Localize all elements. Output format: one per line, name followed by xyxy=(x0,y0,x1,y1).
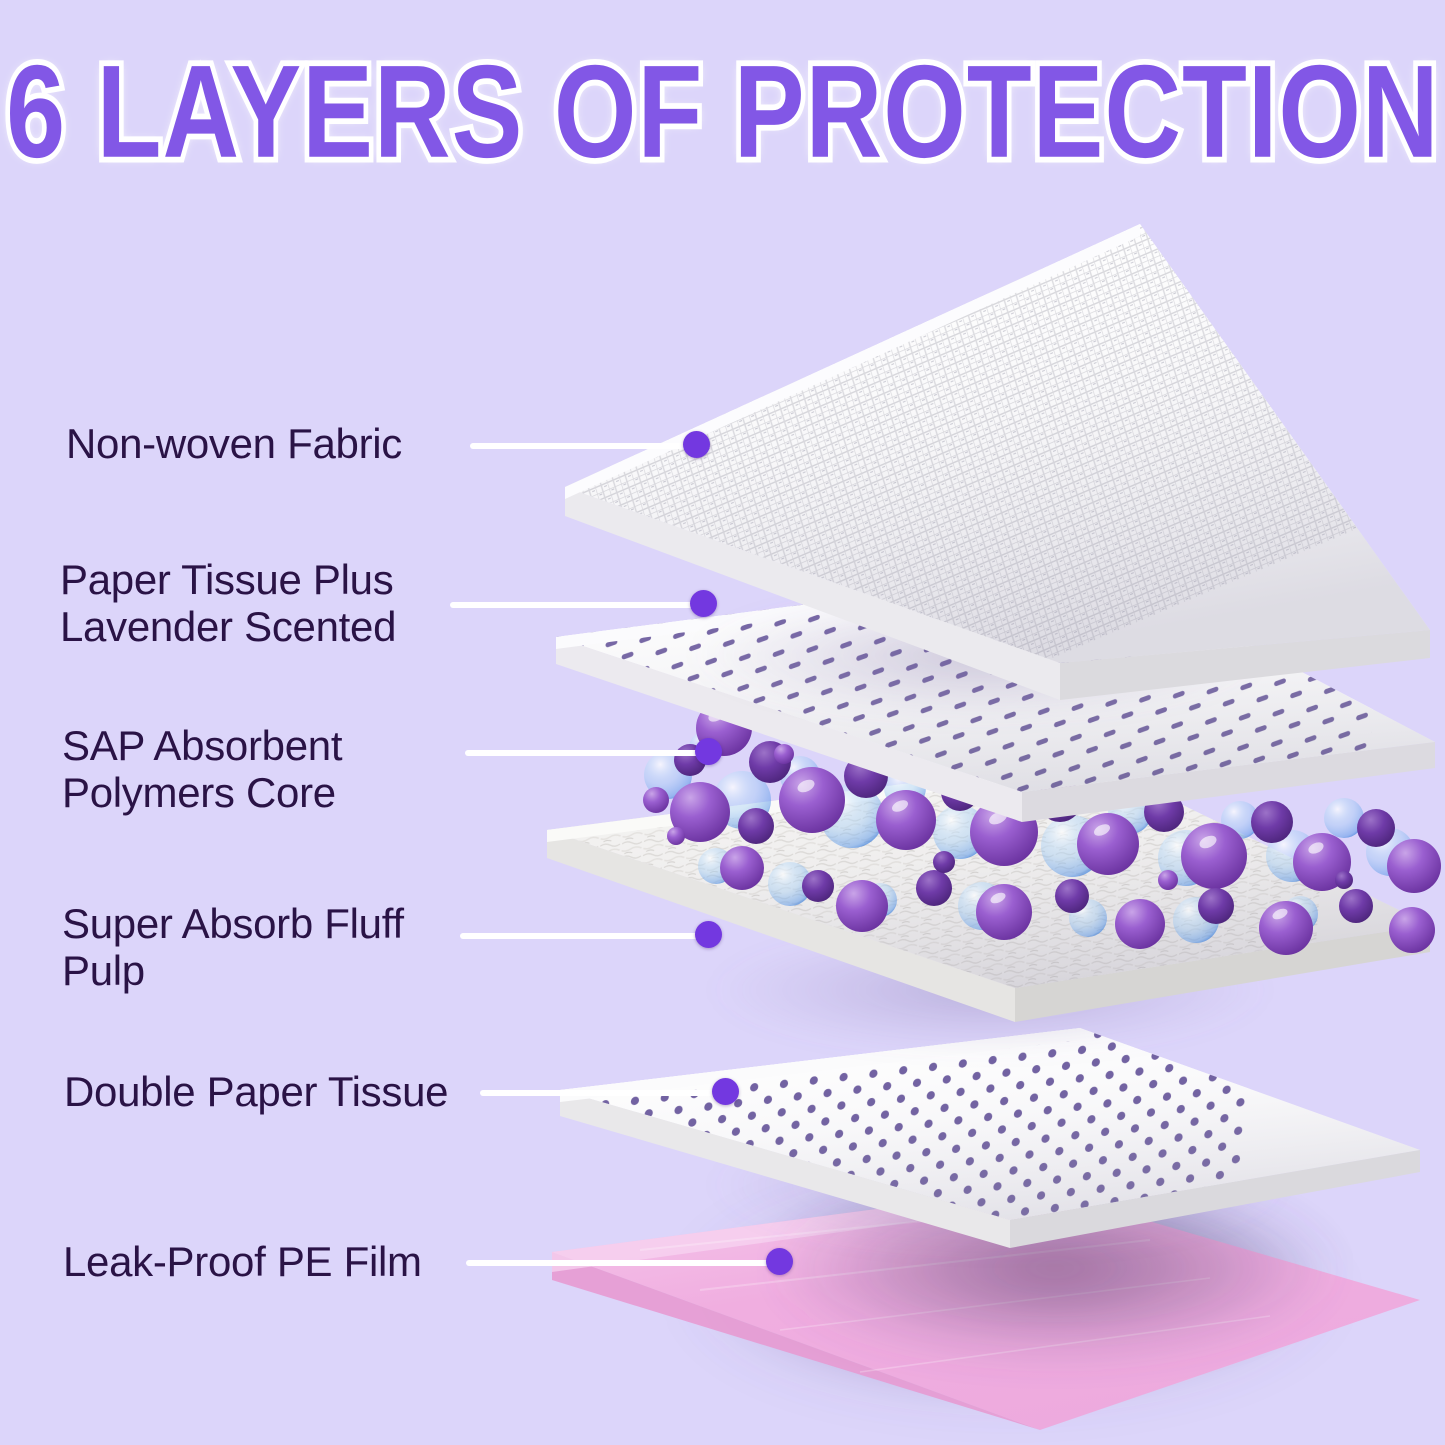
callout-dot-2[interactable] xyxy=(690,590,717,617)
leader-line-3 xyxy=(465,750,708,756)
callout-dot-1[interactable] xyxy=(683,431,710,458)
leader-line-2 xyxy=(450,602,703,608)
layer-label-paper-tissue-lavender: Paper Tissue Plus Lavender Scented xyxy=(60,556,396,650)
layer-label-double-paper-tissue: Double Paper Tissue xyxy=(64,1068,448,1115)
layer-label-sap-core: SAP Absorbent Polymers Core xyxy=(62,722,342,816)
leader-line-5 xyxy=(480,1090,725,1096)
callout-dot-4[interactable] xyxy=(695,921,722,948)
leader-line-1 xyxy=(470,443,696,449)
leader-line-6 xyxy=(466,1260,778,1266)
leader-line-4 xyxy=(460,933,708,939)
callout-dot-6[interactable] xyxy=(766,1248,793,1275)
layer-label-non-woven-fabric: Non-woven Fabric xyxy=(66,420,402,467)
callout-dot-3[interactable] xyxy=(695,738,722,765)
infographic-canvas: 6 LAYERS OF PROTECTION Non-woven Fabric … xyxy=(0,0,1445,1445)
layer-label-pe-film: Leak-Proof PE Film xyxy=(63,1238,422,1285)
callout-dot-5[interactable] xyxy=(712,1078,739,1105)
layer-label-fluff-pulp: Super Absorb Fluff Pulp xyxy=(62,900,404,994)
